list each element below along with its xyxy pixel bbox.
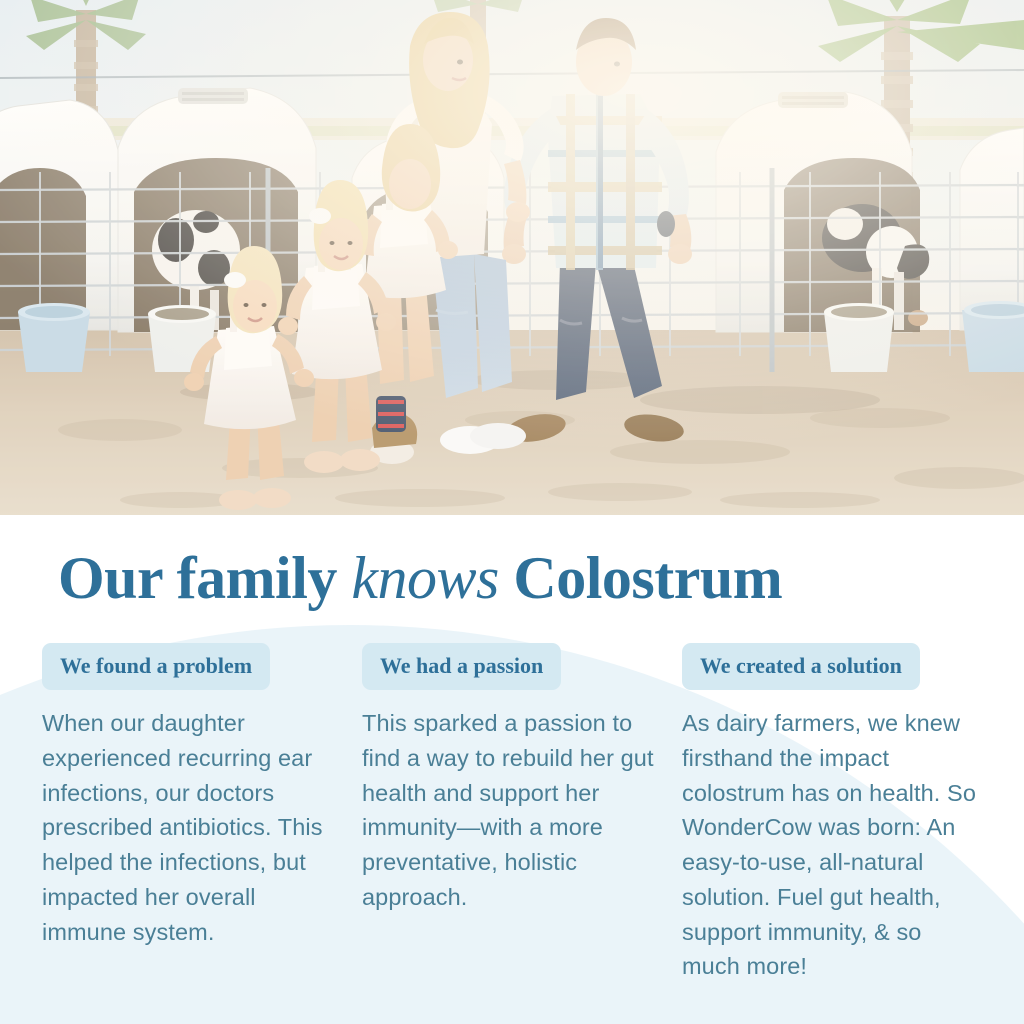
hero-photo [0, 0, 1024, 515]
hero-illustration [0, 0, 1024, 515]
story-pill-solution: We created a solution [682, 643, 920, 690]
story-body-passion: This sparked a passion to find a way to … [362, 706, 660, 915]
story-body-problem: When our daughter experienced recurring … [42, 706, 340, 949]
story-columns: We found a problem When our daughter exp… [42, 643, 1004, 984]
story-section: Our family knows Colostrum We found a pr… [0, 515, 1024, 1024]
story-column-solution: We created a solution As dairy farmers, … [682, 643, 1002, 984]
warm-wash [0, 0, 1024, 515]
headline-emphasis: knows [351, 545, 499, 611]
story-column-problem: We found a problem When our daughter exp… [42, 643, 362, 984]
story-column-passion: We had a passion This sparked a passion … [362, 643, 682, 984]
headline-part-2: Colostrum [499, 545, 782, 611]
story-pill-problem: We found a problem [42, 643, 270, 690]
headline-part-1: Our family [58, 545, 351, 611]
story-body-solution: As dairy farmers, we knew firsthand the … [682, 706, 980, 984]
page-title: Our family knows Colostrum [58, 547, 998, 609]
story-pill-passion: We had a passion [362, 643, 561, 690]
